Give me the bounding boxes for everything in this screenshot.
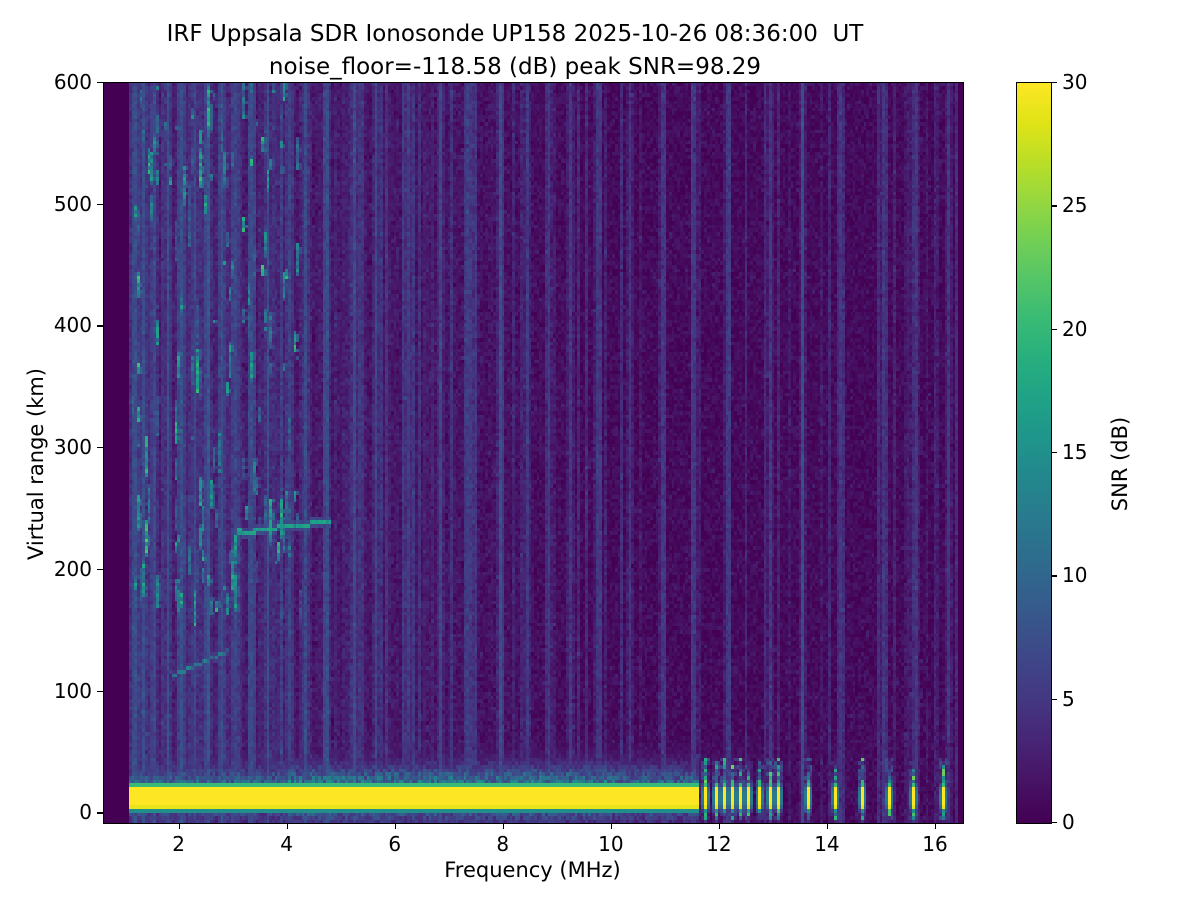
x-tick-mark bbox=[287, 823, 288, 829]
x-tick-mark bbox=[611, 823, 612, 829]
colorbar-tick-label: 25 bbox=[1062, 193, 1087, 217]
y-tick-label: 500 bbox=[54, 192, 92, 216]
ionogram-plot-area bbox=[103, 82, 964, 824]
colorbar-tick-label: 5 bbox=[1062, 687, 1075, 711]
y-axis-label: Virtual range (km) bbox=[24, 344, 48, 584]
colorbar-tick-mark bbox=[1051, 452, 1057, 453]
x-tick-label: 2 bbox=[172, 832, 185, 856]
y-tick-label: 0 bbox=[79, 800, 92, 824]
x-tick-mark bbox=[503, 823, 504, 829]
colorbar-tick-mark bbox=[1051, 205, 1057, 206]
y-tick-label: 300 bbox=[54, 435, 92, 459]
ionogram-figure: IRF Uppsala SDR Ionosonde UP158 2025-10-… bbox=[0, 0, 1200, 900]
x-tick-label: 16 bbox=[922, 832, 947, 856]
y-tick-label: 400 bbox=[54, 313, 92, 337]
y-tick-mark bbox=[97, 812, 103, 813]
x-tick-mark bbox=[935, 823, 936, 829]
x-tick-label: 10 bbox=[598, 832, 623, 856]
x-tick-mark bbox=[395, 823, 396, 829]
x-axis-label: Frequency (MHz) bbox=[103, 858, 962, 882]
x-tick-label: 8 bbox=[496, 832, 509, 856]
x-tick-label: 6 bbox=[388, 832, 401, 856]
y-tick-mark bbox=[97, 569, 103, 570]
y-tick-label: 100 bbox=[54, 679, 92, 703]
y-tick-mark bbox=[97, 447, 103, 448]
colorbar-label: SNR (dB) bbox=[1108, 344, 1132, 584]
colorbar-tick-label: 10 bbox=[1062, 563, 1087, 587]
colorbar-tick-label: 30 bbox=[1062, 70, 1087, 94]
colorbar-gradient bbox=[1017, 83, 1051, 823]
colorbar-tick-mark bbox=[1051, 82, 1057, 83]
figure-title: IRF Uppsala SDR Ionosonde UP158 2025-10-… bbox=[0, 18, 1030, 84]
x-tick-label: 4 bbox=[280, 832, 293, 856]
y-tick-label: 600 bbox=[54, 70, 92, 94]
ionogram-heatmap bbox=[104, 83, 963, 823]
x-tick-mark bbox=[827, 823, 828, 829]
y-tick-label: 200 bbox=[54, 557, 92, 581]
colorbar-tick-mark bbox=[1051, 822, 1057, 823]
y-tick-mark bbox=[97, 82, 103, 83]
title-line-1: IRF Uppsala SDR Ionosonde UP158 2025-10-… bbox=[0, 18, 1030, 51]
y-tick-mark bbox=[97, 325, 103, 326]
y-tick-mark bbox=[97, 204, 103, 205]
title-line-2: noise_floor=-118.58 (dB) peak SNR=98.29 bbox=[0, 51, 1030, 84]
colorbar-tick-label: 20 bbox=[1062, 317, 1087, 341]
x-tick-label: 14 bbox=[814, 832, 839, 856]
colorbar-tick-mark bbox=[1051, 575, 1057, 576]
colorbar-tick-label: 0 bbox=[1062, 810, 1075, 834]
x-tick-mark bbox=[179, 823, 180, 829]
x-tick-label: 12 bbox=[706, 832, 731, 856]
colorbar-tick-mark bbox=[1051, 329, 1057, 330]
colorbar-tick-mark bbox=[1051, 699, 1057, 700]
y-tick-mark bbox=[97, 691, 103, 692]
colorbar bbox=[1016, 82, 1052, 824]
colorbar-tick-label: 15 bbox=[1062, 440, 1087, 464]
x-tick-mark bbox=[719, 823, 720, 829]
